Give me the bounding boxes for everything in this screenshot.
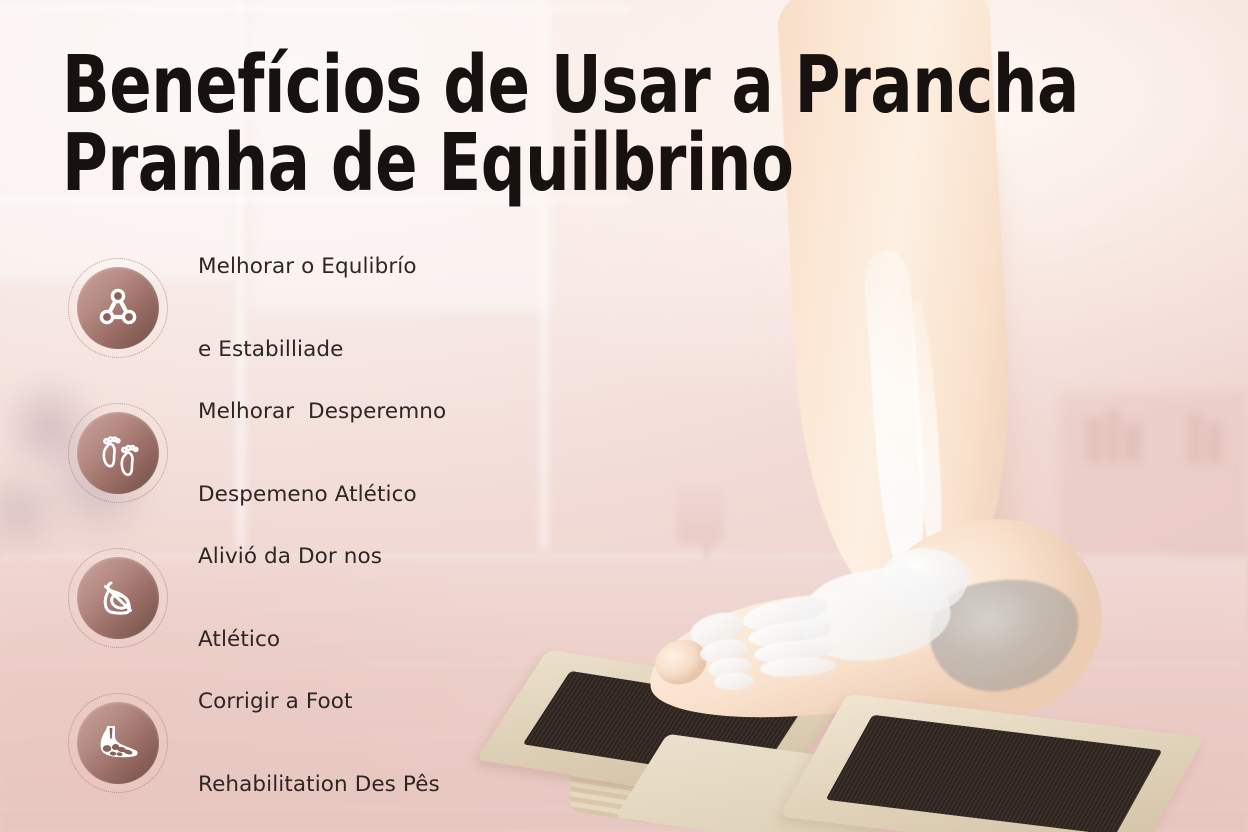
page-title-line-1: Benefícios de Usar a Prancha [62,46,907,124]
benefit-label-line-1: Corrigir a Foot [198,688,440,716]
pain-relief-crossed-out-icon [94,574,142,622]
benefit-icon-1 [68,258,168,358]
two-footprints-icon [94,429,142,477]
list-item: Corrigir a Foot Rehabilitation Des Pês [68,693,588,793]
benefits-list: Melhorar o Equlibrío e Estabilliade [68,258,588,793]
poster-content: Benefícios de Usar a Prancha Pranha de E… [0,0,1248,832]
icon-disc [77,702,159,784]
icon-disc [77,557,159,639]
page-title: Benefícios de Usar a Prancha Pranha de E… [62,46,907,202]
foot-skeleton-icon [93,718,143,768]
icon-disc [77,267,159,349]
benefit-label-line-2: Rehabilitation Des Pês [198,771,440,799]
benefit-icon-2 [68,403,168,503]
benefit-label-line-1: Melhorar Desperemno [198,398,446,426]
page-title-line-2: Pranha de Equilbrino [62,124,907,202]
balance-triangle-nodes-icon [95,285,141,331]
benefit-icon-4 [68,693,168,793]
benefit-icon-3 [68,548,168,648]
icon-disc [77,412,159,494]
benefit-label: Corrigir a Foot Rehabilitation Des Pês [198,633,440,832]
benefit-label-line-1: Melhorar o Equlibrío [198,253,417,281]
benefit-label-line-1: Alivió da Dor nos [198,543,382,571]
